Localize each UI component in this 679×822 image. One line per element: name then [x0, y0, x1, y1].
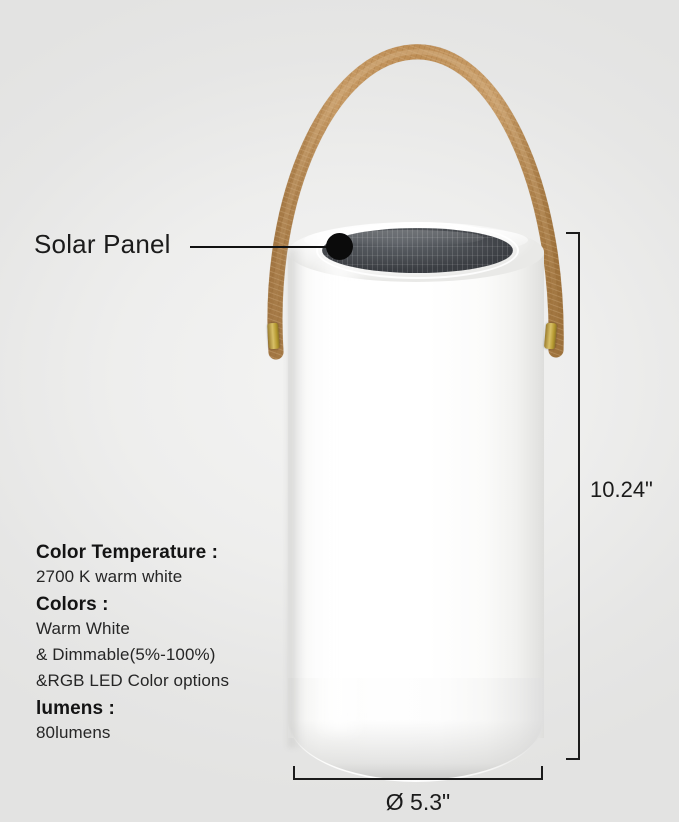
height-dimension-tick-bottom	[566, 758, 580, 760]
spec-value-colors-2: & Dimmable(5%-100%)	[36, 646, 286, 663]
solar-panel-leader-dot	[326, 233, 353, 260]
spec-value-color-temperature: 2700 K warm white	[36, 568, 286, 585]
diameter-dimension-tick-left	[293, 766, 295, 780]
height-dimension-tick-top	[566, 232, 580, 234]
body-left-shade	[288, 248, 304, 748]
solar-panel-callout-label: Solar Panel	[34, 229, 171, 260]
solar-panel-leader-line	[190, 246, 333, 248]
height-dimension-label: 10.24"	[590, 477, 653, 503]
height-dimension-line	[578, 232, 580, 760]
body-gloss-highlight	[314, 262, 368, 732]
strap-rivet-right	[544, 323, 557, 350]
spec-heading-color-temperature: Color Temperature :	[36, 543, 286, 562]
specifications-block: Color Temperature : 2700 K warm white Co…	[36, 543, 286, 751]
solar-panel-sheen	[334, 230, 484, 246]
spec-heading-colors: Colors :	[36, 595, 286, 614]
diameter-dimension-tick-right	[541, 766, 543, 780]
infographic-canvas: Solar Panel 10.24" Ø 5.3" Color Temperat…	[0, 0, 679, 822]
spec-value-colors-1: Warm White	[36, 620, 286, 637]
spec-heading-lumens: lumens :	[36, 699, 286, 718]
lantern-body	[288, 222, 544, 759]
diameter-dimension-line	[293, 778, 543, 780]
spec-value-lumens: 80lumens	[36, 724, 286, 741]
diameter-dimension-label: Ø 5.3"	[293, 789, 543, 816]
strap-rivet-left	[267, 323, 280, 350]
spec-value-colors-3: &RGB LED Color options	[36, 672, 286, 689]
